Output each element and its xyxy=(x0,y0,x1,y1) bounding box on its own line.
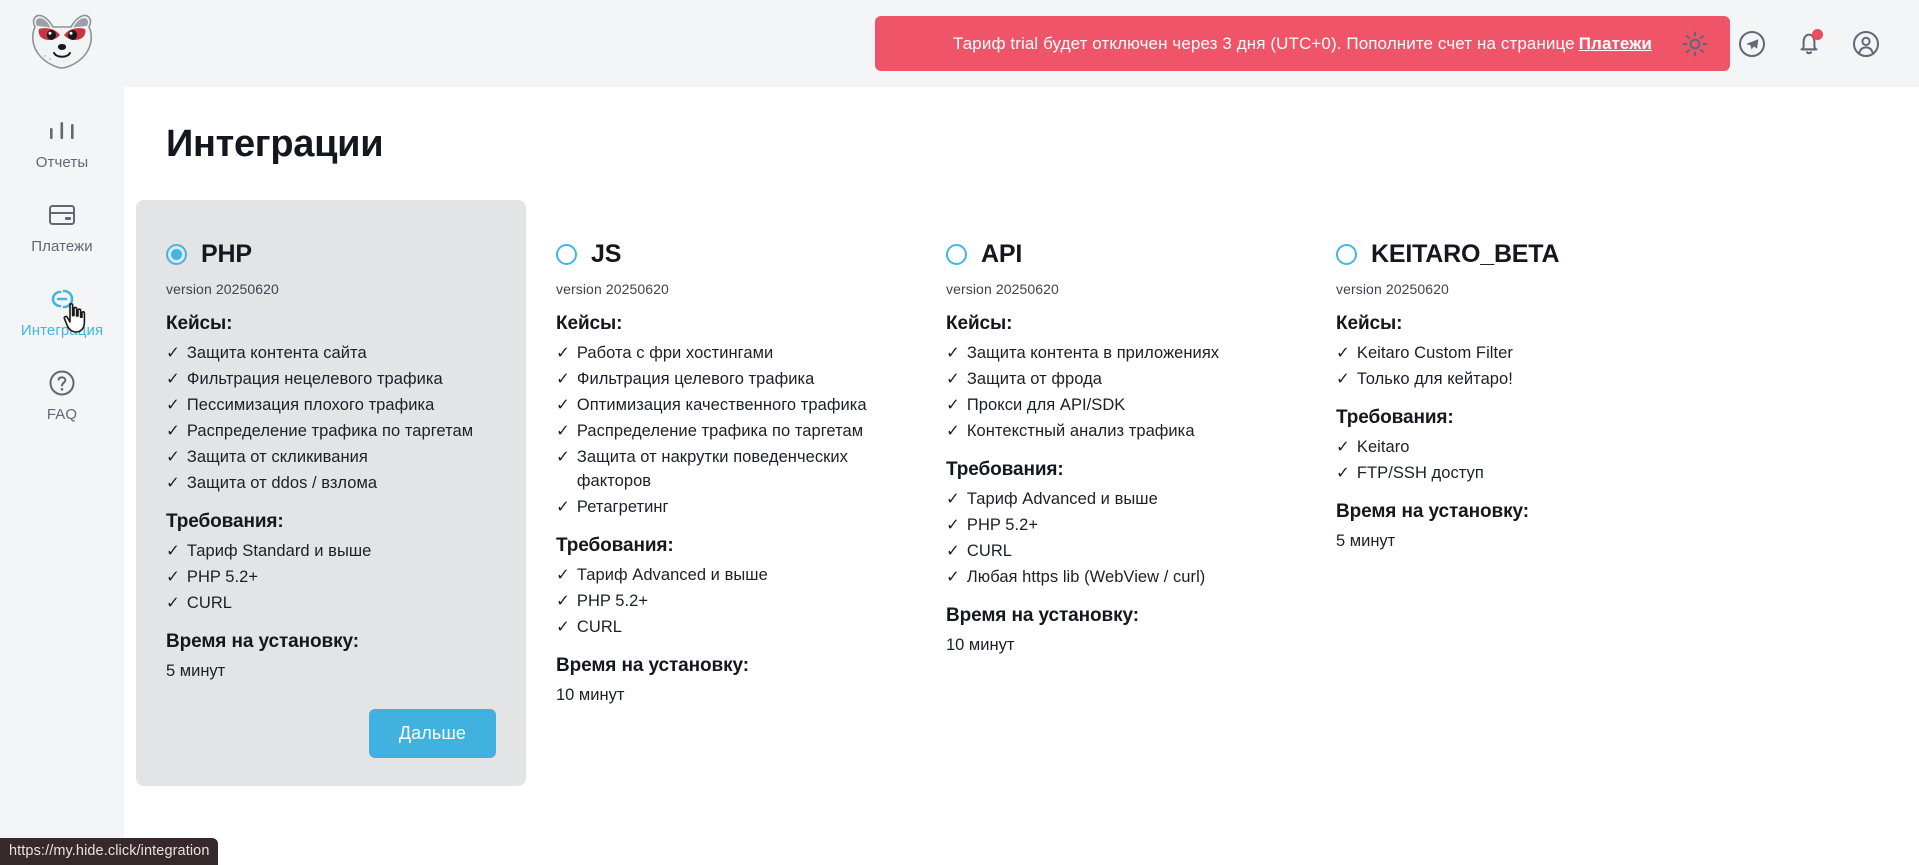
requirement-item: ✓Keitaro xyxy=(1336,435,1666,459)
case-item: ✓Работа с фри хостингами xyxy=(556,341,886,365)
check-icon: ✓ xyxy=(556,367,570,391)
radio-api[interactable] xyxy=(946,244,967,265)
case-item-text: Распределение трафика по таргетам xyxy=(577,419,863,443)
card-title: KEITARO_BETA xyxy=(1371,240,1559,269)
cases-heading: Кейсы: xyxy=(166,313,496,335)
raccoon-logo[interactable] xyxy=(26,10,98,72)
cases-heading: Кейсы: xyxy=(556,313,886,335)
card-footer: Дальше xyxy=(166,709,496,758)
install-time-value: 5 минут xyxy=(1336,529,1666,553)
card-header: PHP xyxy=(166,240,496,269)
case-item-text: Защита от накрутки поведенческих факторо… xyxy=(577,445,886,493)
check-icon: ✓ xyxy=(556,563,570,587)
card-title: PHP xyxy=(201,240,252,269)
check-icon: ✓ xyxy=(946,565,960,589)
requirement-item: ✓CURL xyxy=(166,591,496,615)
check-icon: ✓ xyxy=(556,495,570,519)
alert-payments-link[interactable]: Платежи xyxy=(1579,34,1652,54)
requirement-item-text: Тариф Advanced и выше xyxy=(577,563,768,587)
bell-icon[interactable] xyxy=(1794,29,1824,59)
case-item: ✓Ретагретинг xyxy=(556,495,886,519)
cases-heading: Кейсы: xyxy=(1336,313,1666,335)
sidebar-item-label: Платежи xyxy=(31,238,93,256)
integration-card-js[interactable]: JSversion 20250620Кейсы:✓Работа с фри хо… xyxy=(526,200,916,737)
requirement-item-text: Любая https lib (WebView / curl) xyxy=(967,565,1205,589)
case-item-text: Контекстный анализ трафика xyxy=(967,419,1195,443)
check-icon: ✓ xyxy=(1336,461,1350,485)
case-item: ✓Защита от ddos / взлома xyxy=(166,471,496,495)
cases-heading: Кейсы: xyxy=(946,313,1276,335)
sidebar-item-label: Интеграция xyxy=(21,322,103,340)
requirement-item: ✓Тариф Advanced и выше xyxy=(556,563,886,587)
requirement-item-text: CURL xyxy=(577,615,622,639)
app-root: Отчеты Платежи xyxy=(0,0,1919,865)
card-title: API xyxy=(981,240,1022,269)
case-item: ✓Пессимизация плохого трафика xyxy=(166,393,496,417)
check-icon: ✓ xyxy=(946,419,960,443)
sidebar-item-label: Отчеты xyxy=(36,154,88,172)
case-item: ✓Оптимизация качественного трафика xyxy=(556,393,886,417)
check-icon: ✓ xyxy=(946,393,960,417)
link-icon xyxy=(45,282,79,316)
requirement-item-text: Keitaro xyxy=(1357,435,1410,459)
card-version: version 20250620 xyxy=(556,281,886,297)
install-time-heading: Время на установку: xyxy=(166,631,496,653)
sidebar-item-integraciya[interactable]: Интеграция xyxy=(0,282,124,340)
case-item: ✓Защита контента в приложениях xyxy=(946,341,1276,365)
bar-chart-icon xyxy=(45,114,79,148)
check-icon: ✓ xyxy=(946,513,960,537)
requirement-item: ✓Любая https lib (WebView / curl) xyxy=(946,565,1276,589)
integration-card-php[interactable]: PHPversion 20250620Кейсы:✓Защита контент… xyxy=(136,200,526,786)
requirements-heading: Требования: xyxy=(556,535,886,557)
check-icon: ✓ xyxy=(166,419,180,443)
check-icon: ✓ xyxy=(946,367,960,391)
case-item-text: Оптимизация качественного трафика xyxy=(577,393,867,417)
case-item: ✓Защита от скликивания xyxy=(166,445,496,469)
card-title: JS xyxy=(591,240,621,269)
case-item-text: Прокси для API/SDK xyxy=(967,393,1125,417)
trial-alert-banner: Тариф trial будет отключен через 3 дня (… xyxy=(875,16,1730,71)
requirements-heading: Требования: xyxy=(166,511,496,533)
page-title: Интеграции xyxy=(166,123,1919,166)
requirement-item-text: PHP 5.2+ xyxy=(187,565,258,589)
requirement-item-text: Тариф Advanced и выше xyxy=(967,487,1158,511)
check-icon: ✓ xyxy=(556,589,570,613)
requirement-item: ✓PHP 5.2+ xyxy=(556,589,886,613)
case-item-text: Ретагретинг xyxy=(577,495,669,519)
case-item: ✓Контекстный анализ трафика xyxy=(946,419,1276,443)
sidebar-item-faq[interactable]: FAQ xyxy=(0,366,124,424)
requirement-item-text: PHP 5.2+ xyxy=(967,513,1038,537)
install-time-value: 10 минут xyxy=(946,633,1276,657)
check-icon: ✓ xyxy=(946,341,960,365)
check-icon: ✓ xyxy=(556,341,570,365)
integration-cards: PHPversion 20250620Кейсы:✓Защита контент… xyxy=(136,200,1919,786)
case-item-text: Защита от скликивания xyxy=(187,445,368,469)
case-item-text: Пессимизация плохого трафика xyxy=(187,393,435,417)
check-icon: ✓ xyxy=(556,445,570,493)
sidebar-nav: Отчеты Платежи xyxy=(0,114,124,424)
case-item: ✓Распределение трафика по таргетам xyxy=(166,419,496,443)
radio-php[interactable] xyxy=(166,244,187,265)
requirements-heading: Требования: xyxy=(946,459,1276,481)
case-item-text: Keitaro Custom Filter xyxy=(1357,341,1513,365)
next-button[interactable]: Дальше xyxy=(369,709,496,758)
card-version: version 20250620 xyxy=(1336,281,1666,297)
requirement-item-text: PHP 5.2+ xyxy=(577,589,648,613)
sidebar: Отчеты Платежи xyxy=(0,0,124,865)
sidebar-item-otchety[interactable]: Отчеты xyxy=(0,114,124,172)
card-header: API xyxy=(946,240,1276,269)
check-icon: ✓ xyxy=(166,539,180,563)
case-item: ✓Keitaro Custom Filter xyxy=(1336,341,1666,365)
main-content: Интеграции PHPversion 20250620Кейсы:✓Защ… xyxy=(124,87,1919,865)
question-icon xyxy=(45,366,79,400)
case-item: ✓Фильтрация целевого трафика xyxy=(556,367,886,391)
case-item: ✓Только для кейтаро! xyxy=(1336,367,1666,391)
check-icon: ✓ xyxy=(166,393,180,417)
sun-icon[interactable] xyxy=(1680,29,1710,59)
check-icon: ✓ xyxy=(166,565,180,589)
requirement-item: ✓PHP 5.2+ xyxy=(166,565,496,589)
case-item-text: Защита контента в приложениях xyxy=(967,341,1219,365)
case-item: ✓Защита от накрутки поведенческих фактор… xyxy=(556,445,886,493)
requirement-item-text: CURL xyxy=(967,539,1012,563)
check-icon: ✓ xyxy=(556,615,570,639)
check-icon: ✓ xyxy=(166,341,180,365)
requirement-item-text: FTP/SSH доступ xyxy=(1357,461,1484,485)
notification-badge xyxy=(1812,29,1823,40)
case-item: ✓Распределение трафика по таргетам xyxy=(556,419,886,443)
case-item-text: Только для кейтаро! xyxy=(1357,367,1513,391)
case-item-text: Защита от ddos / взлома xyxy=(187,471,377,495)
case-item-text: Работа с фри хостингами xyxy=(577,341,773,365)
card-header: KEITARO_BETA xyxy=(1336,240,1666,269)
requirement-item-text: CURL xyxy=(187,591,232,615)
topbar: Тариф trial будет отключен через 3 дня (… xyxy=(124,0,1919,87)
requirement-item: ✓CURL xyxy=(946,539,1276,563)
requirement-item: ✓FTP/SSH доступ xyxy=(1336,461,1666,485)
check-icon: ✓ xyxy=(166,591,180,615)
sidebar-item-label: FAQ xyxy=(47,406,77,424)
install-time-value: 10 минут xyxy=(556,683,886,707)
alert-text: Тариф trial будет отключен через 3 дня (… xyxy=(953,34,1575,54)
check-icon: ✓ xyxy=(946,487,960,511)
integration-card-keitaro-beta[interactable]: KEITARO_BETAversion 20250620Кейсы:✓Keita… xyxy=(1306,200,1696,583)
sidebar-item-platezhi[interactable]: Платежи xyxy=(0,198,124,256)
card-version: version 20250620 xyxy=(166,281,496,297)
check-icon: ✓ xyxy=(166,445,180,469)
case-item-text: Фильтрация нецелевого трафика xyxy=(187,367,443,391)
check-icon: ✓ xyxy=(556,419,570,443)
check-icon: ✓ xyxy=(166,367,180,391)
case-item: ✓Защита контента сайта xyxy=(166,341,496,365)
install-time-heading: Время на установку: xyxy=(946,605,1276,627)
card-icon xyxy=(45,198,79,232)
radio-js[interactable] xyxy=(556,244,577,265)
telegram-icon[interactable] xyxy=(1737,29,1767,59)
case-item-text: Защита от фрода xyxy=(967,367,1102,391)
radio-keitaro-beta[interactable] xyxy=(1336,244,1357,265)
account-icon[interactable] xyxy=(1851,29,1881,59)
card-version: version 20250620 xyxy=(946,281,1276,297)
requirement-item: ✓Тариф Standard и выше xyxy=(166,539,496,563)
card-header: JS xyxy=(556,240,886,269)
case-item: ✓Фильтрация нецелевого трафика xyxy=(166,367,496,391)
install-time-heading: Время на установку: xyxy=(1336,501,1666,523)
check-icon: ✓ xyxy=(1336,435,1350,459)
case-item: ✓Защита от фрода xyxy=(946,367,1276,391)
requirement-item: ✓CURL xyxy=(556,615,886,639)
check-icon: ✓ xyxy=(1336,341,1350,365)
status-bar-url: https://my.hide.click/integration xyxy=(0,838,218,865)
case-item-text: Фильтрация целевого трафика xyxy=(577,367,814,391)
check-icon: ✓ xyxy=(556,393,570,417)
check-icon: ✓ xyxy=(946,539,960,563)
install-time-heading: Время на установку: xyxy=(556,655,886,677)
install-time-value: 5 минут xyxy=(166,659,496,683)
case-item-text: Защита контента сайта xyxy=(187,341,367,365)
check-icon: ✓ xyxy=(1336,367,1350,391)
check-icon: ✓ xyxy=(166,471,180,495)
requirements-heading: Требования: xyxy=(1336,407,1666,429)
integration-card-api[interactable]: APIversion 20250620Кейсы:✓Защита контент… xyxy=(916,200,1306,687)
case-item-text: Распределение трафика по таргетам xyxy=(187,419,473,443)
requirement-item-text: Тариф Standard и выше xyxy=(187,539,372,563)
requirement-item: ✓Тариф Advanced и выше xyxy=(946,487,1276,511)
requirement-item: ✓PHP 5.2+ xyxy=(946,513,1276,537)
case-item: ✓Прокси для API/SDK xyxy=(946,393,1276,417)
